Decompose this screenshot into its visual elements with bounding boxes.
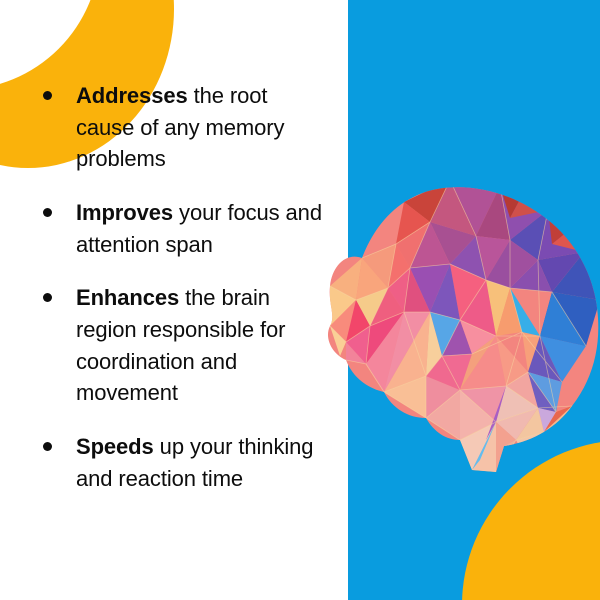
list-item: Speeds up your thinking and reaction tim… <box>0 431 330 494</box>
bullet-dot-icon <box>43 442 52 451</box>
low-poly-brain-illustration <box>300 140 600 480</box>
list-item: Addresses the root cause of any memory p… <box>0 80 330 175</box>
bullet-dot-icon <box>43 208 52 217</box>
bullet-dot-icon <box>43 293 52 302</box>
benefits-poster: Addresses the root cause of any memory p… <box>0 0 600 600</box>
bullet-lead-word: Improves <box>76 200 173 225</box>
bullet-lead-word: Speeds <box>76 434 154 459</box>
list-item: Enhances the brain region responsible fo… <box>0 282 330 409</box>
benefits-bullet-list: Addresses the root cause of any memory p… <box>0 80 330 494</box>
bullet-lead-word: Addresses <box>76 83 188 108</box>
bullet-lead-word: Enhances <box>76 285 179 310</box>
bullet-dot-icon <box>43 91 52 100</box>
list-item: Improves your focus and attention span <box>0 197 330 260</box>
